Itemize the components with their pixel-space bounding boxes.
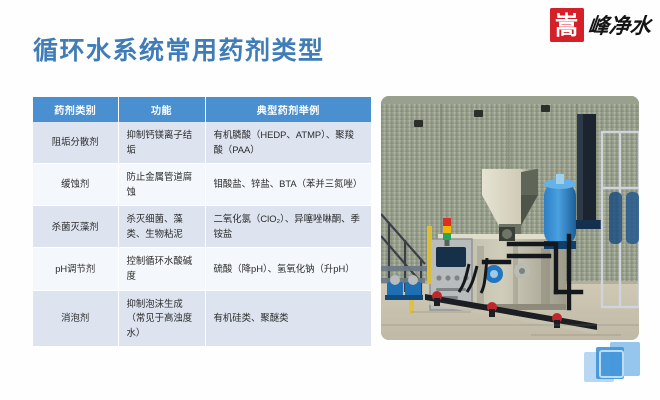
column-header-function: 功能 [118,97,205,122]
cell-function: 抑制泡沫生成（常见于高浊度水） [118,290,205,347]
cell-category: 缓蚀剂 [33,164,118,206]
table-header-row: 药剂类别 功能 典型药剂举例 [33,97,371,122]
column-header-category: 药剂类别 [33,97,118,122]
cell-category: 阻垢分散剂 [33,122,118,164]
decorative-squares [584,342,646,388]
column-header-examples: 典型药剂举例 [205,97,371,122]
cell-function: 抑制钙镁离子结垢 [118,122,205,164]
table-row: 阻垢分散剂 抑制钙镁离子结垢 有机膦酸（HEDP、ATMP）、聚羧酸（PAA） [33,122,371,164]
logo-wordmark: 峰净水 [585,15,652,36]
chemical-types-table: 药剂类别 功能 典型药剂举例 阻垢分散剂 抑制钙镁离子结垢 有机膦酸（HEDP、… [33,97,371,347]
logo-seal-char: 嵩 [555,13,578,38]
cell-function: 防止金属管道腐蚀 [118,164,205,206]
cell-category: 杀菌灭藻剂 [33,206,118,248]
table-row: 缓蚀剂 防止金属管道腐蚀 钼酸盐、锌盐、BTA（苯并三氮唑） [33,164,371,206]
table-row: 消泡剂 抑制泡沫生成（常见于高浊度水） 有机硅类、聚醚类 [33,290,371,347]
cell-examples: 二氧化氯（ClO₂）、异噻唑啉酮、季铵盐 [205,206,371,248]
cell-examples: 钼酸盐、锌盐、BTA（苯并三氮唑） [205,164,371,206]
table-row: 杀菌灭藻剂 杀灭细菌、藻类、生物粘泥 二氧化氯（ClO₂）、异噻唑啉酮、季铵盐 [33,206,371,248]
cell-function: 杀灭细菌、藻类、生物粘泥 [118,206,205,248]
cell-examples: 硫酸（降pH）、氢氧化钠（升pH） [205,248,371,290]
logo-seal-icon: 嵩 [550,8,584,42]
deco-square-outline [599,350,624,378]
table-row: pH调节剂 控制循环水酸碱度 硫酸（降pH）、氢氧化钠（升pH） [33,248,371,290]
equipment-photo [381,96,639,340]
slide-canvas: 嵩 峰净水 循环水系统常用药剂类型 药剂类别 功能 典型药剂举例 阻垢分散剂 抑… [0,0,660,400]
page-title: 循环水系统常用药剂类型 [33,31,325,67]
cell-examples: 有机硅类、聚醚类 [205,290,371,347]
cell-function: 控制循环水酸碱度 [118,248,205,290]
cell-examples: 有机膦酸（HEDP、ATMP）、聚羧酸（PAA） [205,122,371,164]
cell-category: 消泡剂 [33,290,118,347]
company-logo: 嵩 峰净水 [550,6,651,44]
equipment-photo-illustration [381,96,639,340]
cell-category: pH调节剂 [33,248,118,290]
